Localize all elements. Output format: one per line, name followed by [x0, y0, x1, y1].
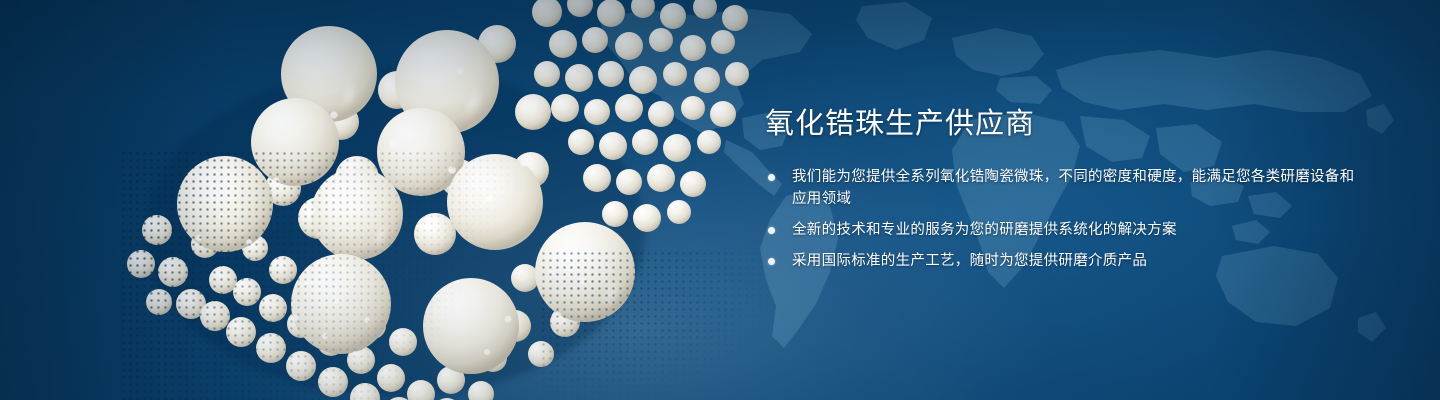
- hero-banner: 氧化锆珠生产供应商 我们能为您提供全系列氧化锆陶瓷微珠，不同的密度和硬度，能满足…: [0, 0, 1440, 400]
- list-item: 我们能为您提供全系列氧化锆陶瓷微珠，不同的密度和硬度，能满足您各类研磨设备和应用…: [765, 166, 1365, 210]
- list-item-label: 采用国际标准的生产工艺，随时为您提供研磨介质产品: [792, 253, 1147, 269]
- list-item-label: 全新的技术和专业的服务为您的研磨提供系统化的解决方案: [792, 222, 1177, 238]
- page-title: 氧化锆珠生产供应商: [765, 104, 1365, 144]
- feature-list: 我们能为您提供全系列氧化锆陶瓷微珠，不同的密度和硬度，能满足您各类研磨设备和应用…: [765, 166, 1365, 272]
- list-item: 全新的技术和专业的服务为您的研磨提供系统化的解决方案: [765, 219, 1365, 241]
- banner-copy: 氧化锆珠生产供应商 我们能为您提供全系列氧化锆陶瓷微珠，不同的密度和硬度，能满足…: [765, 104, 1365, 272]
- list-item: 采用国际标准的生产工艺，随时为您提供研磨介质产品: [765, 250, 1365, 272]
- list-item-label: 我们能为您提供全系列氧化锆陶瓷微珠，不同的密度和硬度，能满足您各类研磨设备和应用…: [792, 169, 1354, 207]
- bullet-dot-icon: [768, 258, 775, 265]
- bullet-dot-icon: [768, 174, 775, 181]
- bullet-dot-icon: [768, 227, 775, 234]
